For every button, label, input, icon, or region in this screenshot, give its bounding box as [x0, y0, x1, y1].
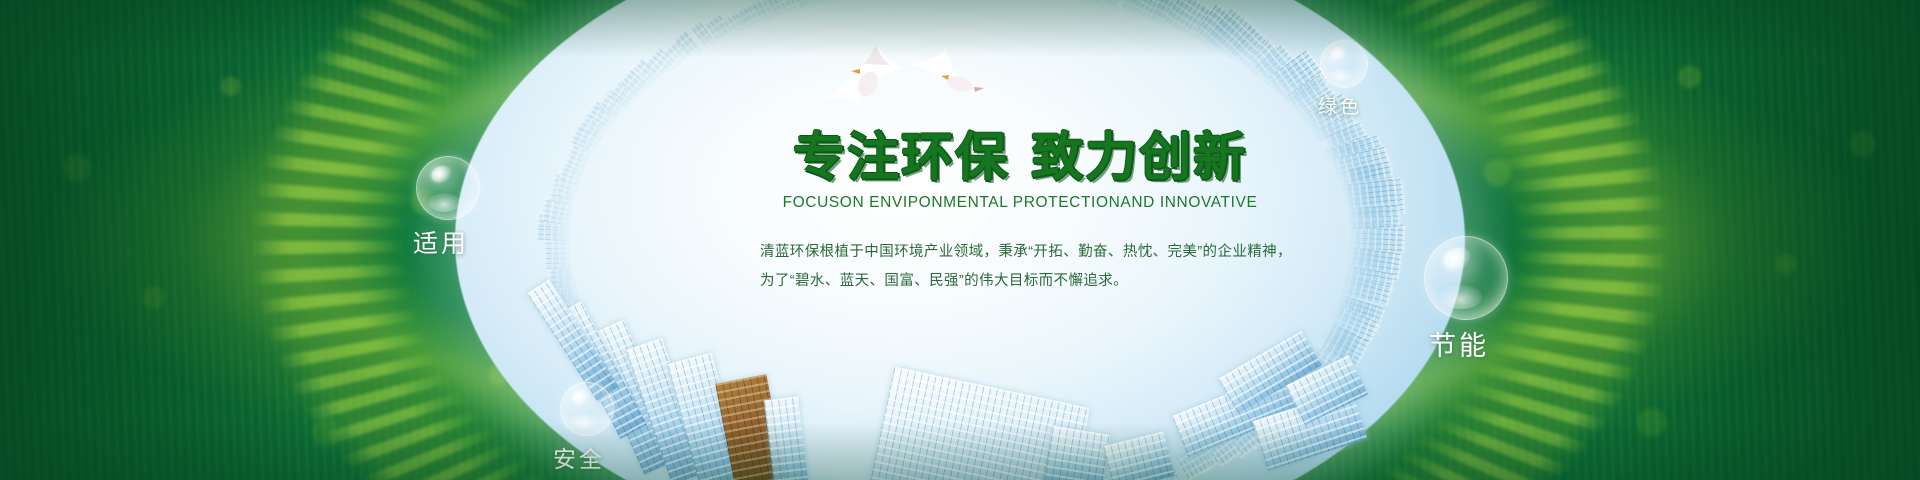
page-title: 专注环保致力创新	[760, 130, 1280, 186]
bubble-icon	[1320, 40, 1368, 88]
bubble-shiyong: 适用	[402, 156, 480, 260]
headline-part-1: 专注环保	[793, 129, 1009, 187]
banner-description: 清蓝环保根植于中国环境产业领域，秉承“开拓、勤奋、热忱、完美”的企业精神， 为了…	[760, 238, 1280, 296]
bubble-jieneng: 节能	[1410, 236, 1508, 363]
bubble-label: 绿色	[1312, 92, 1368, 119]
headline-part-2: 致力创新	[1031, 129, 1247, 187]
bubble-label: 节能	[1410, 324, 1508, 363]
page-subtitle: FOCUSON ENVIPONMENTAL PROTECTIONAND INNO…	[760, 194, 1280, 212]
eco-banner: 适用 绿色 节能 安全 专注环保致力创新 FOCUSON ENVIPONMENT…	[0, 0, 1920, 480]
bubble-icon	[416, 156, 480, 220]
bubble-anquan: 安全	[544, 382, 614, 474]
description-line-2: 为了“碧水、蓝天、国富、民强”的伟大目标而不懈追求。	[760, 267, 1280, 296]
description-line-1: 清蓝环保根植于中国环境产业领域，秉承“开拓、勤奋、热忱、完美”的企业精神，	[760, 238, 1280, 267]
bubble-lvse: 绿色	[1312, 40, 1368, 119]
bubble-icon	[1424, 236, 1508, 320]
bubble-label: 适用	[402, 224, 480, 260]
bubble-label: 安全	[544, 440, 614, 474]
seagull-icon	[908, 42, 994, 100]
seagull-icon	[812, 34, 920, 106]
banner-text-block: 专注环保致力创新 FOCUSON ENVIPONMENTAL PROTECTIO…	[760, 130, 1280, 296]
bubble-icon	[560, 382, 614, 436]
building	[1044, 426, 1111, 480]
